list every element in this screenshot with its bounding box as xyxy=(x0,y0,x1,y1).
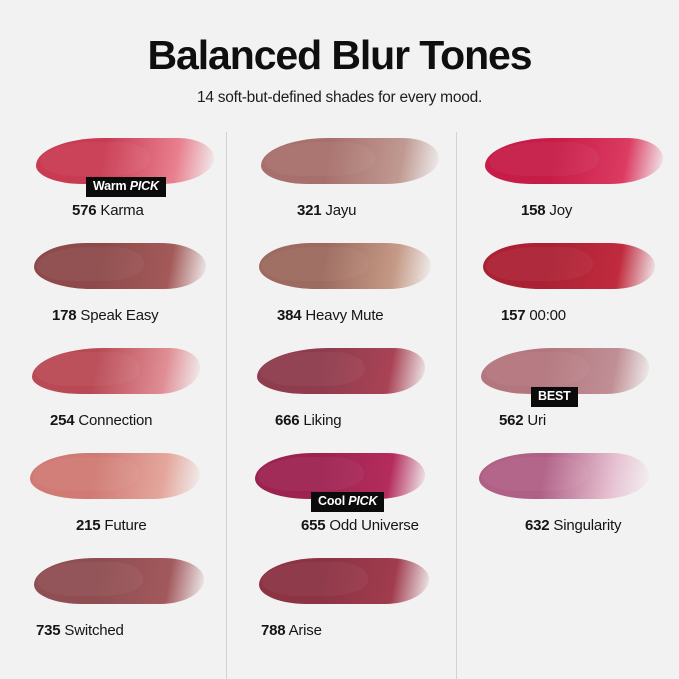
shade-swatch xyxy=(30,453,200,499)
shade-swatch xyxy=(479,453,649,499)
shade-swatch xyxy=(259,243,431,289)
shade-swatch xyxy=(485,138,663,184)
shade-cell[interactable]: Cool PICK655 Odd Universe xyxy=(249,447,456,552)
shade-name: Singularity xyxy=(549,517,621,534)
shade-cell[interactable]: 788 Arise xyxy=(249,552,456,657)
shade-name: Odd Universe xyxy=(325,517,418,534)
badge-label-italic: PICK xyxy=(126,179,158,193)
product-shade-chart: Balanced Blur Tones 14 soft-but-defined … xyxy=(0,0,679,679)
shade-caption: 576 Karma xyxy=(72,202,144,219)
shade-swatch xyxy=(34,558,204,604)
shade-name: Speak Easy xyxy=(76,307,158,324)
shade-caption: 254 Connection xyxy=(50,412,152,429)
swatch-wrap xyxy=(249,132,456,192)
shade-swatch xyxy=(257,348,425,394)
badge-label-strong: BEST xyxy=(538,389,571,403)
shade-cell[interactable]: BEST562 Uri xyxy=(473,342,679,447)
shade-cell[interactable]: 178 Speak Easy xyxy=(24,237,226,342)
shade-column-2: 321 Jayu384 Heavy Mute666 LikingCool PIC… xyxy=(226,132,456,679)
shade-swatch xyxy=(261,138,439,184)
shade-name: Switched xyxy=(60,622,123,639)
swatch-wrap xyxy=(24,342,226,402)
shade-name: Liking xyxy=(299,412,341,429)
badge-label-strong: Cool xyxy=(318,494,345,508)
page-subtitle: 14 soft-but-defined shades for every moo… xyxy=(0,89,679,107)
shade-cell[interactable]: 254 Connection xyxy=(24,342,226,447)
swatch-wrap xyxy=(249,237,456,297)
shade-code: 666 xyxy=(275,412,299,429)
swatch-wrap xyxy=(473,237,679,297)
shade-cell[interactable]: 632 Singularity xyxy=(473,447,679,552)
swatch-wrap xyxy=(473,447,679,507)
shade-code: 254 xyxy=(50,412,74,429)
shade-badge: Warm PICK xyxy=(86,177,166,198)
shade-caption: 788 Arise xyxy=(261,622,322,639)
shade-swatch xyxy=(32,348,200,394)
shade-caption: 666 Liking xyxy=(275,412,341,429)
shade-code: 788 xyxy=(261,622,285,639)
page-title: Balanced Blur Tones xyxy=(0,34,679,77)
shade-code: 562 xyxy=(499,412,523,429)
shade-column-3: 158 Joy157 00:00BEST562 Uri632 Singulari… xyxy=(456,132,679,679)
shade-code: 655 xyxy=(301,517,325,534)
shade-caption: 562 Uri xyxy=(499,412,546,429)
shade-cell[interactable]: 735 Switched xyxy=(24,552,226,657)
shade-badge: BEST xyxy=(531,387,578,408)
shade-code: 576 xyxy=(72,202,96,219)
shade-caption: 215 Future xyxy=(76,517,147,534)
badge-label-italic: PICK xyxy=(345,494,377,508)
shade-caption: 321 Jayu xyxy=(297,202,356,219)
shade-name: Uri xyxy=(523,412,546,429)
shade-code: 321 xyxy=(297,202,321,219)
shade-cell[interactable]: 321 Jayu xyxy=(249,132,456,237)
shade-name: 00:00 xyxy=(525,307,566,324)
swatch-wrap xyxy=(24,237,226,297)
shade-code: 157 xyxy=(501,307,525,324)
shade-name: Jayu xyxy=(321,202,356,219)
swatch-wrap xyxy=(24,447,226,507)
shade-swatch xyxy=(259,558,429,604)
swatch-wrap xyxy=(249,342,456,402)
shade-name: Arise xyxy=(285,622,321,639)
shade-caption: 735 Switched xyxy=(36,622,124,639)
shade-cell[interactable]: 384 Heavy Mute xyxy=(249,237,456,342)
shade-cell[interactable]: Warm PICK576 Karma xyxy=(24,132,226,237)
shade-name: Karma xyxy=(96,202,143,219)
shade-swatch xyxy=(34,243,206,289)
shade-name: Connection xyxy=(74,412,152,429)
shade-badge: Cool PICK xyxy=(311,492,384,513)
shade-code: 632 xyxy=(525,517,549,534)
shade-grid: Warm PICK576 Karma178 Speak Easy254 Conn… xyxy=(0,132,679,679)
swatch-wrap xyxy=(473,132,679,192)
badge-label-strong: Warm xyxy=(93,179,126,193)
shade-code: 735 xyxy=(36,622,60,639)
shade-caption: 157 00:00 xyxy=(501,307,566,324)
shade-code: 215 xyxy=(76,517,100,534)
shade-name: Future xyxy=(100,517,146,534)
shade-swatch xyxy=(483,243,655,289)
shade-column-1: Warm PICK576 Karma178 Speak Easy254 Conn… xyxy=(0,132,226,679)
shade-code: 158 xyxy=(521,202,545,219)
shade-name: Heavy Mute xyxy=(301,307,383,324)
shade-code: 178 xyxy=(52,307,76,324)
header: Balanced Blur Tones 14 soft-but-defined … xyxy=(0,0,679,107)
shade-caption: 632 Singularity xyxy=(525,517,621,534)
swatch-wrap xyxy=(249,552,456,612)
shade-code: 384 xyxy=(277,307,301,324)
shade-cell[interactable]: 157 00:00 xyxy=(473,237,679,342)
shade-cell[interactable]: 158 Joy xyxy=(473,132,679,237)
shade-name: Joy xyxy=(545,202,572,219)
shade-caption: 384 Heavy Mute xyxy=(277,307,383,324)
shade-caption: 178 Speak Easy xyxy=(52,307,158,324)
swatch-wrap xyxy=(24,552,226,612)
shade-caption: 158 Joy xyxy=(521,202,572,219)
shade-cell[interactable]: 215 Future xyxy=(24,447,226,552)
shade-cell[interactable]: 666 Liking xyxy=(249,342,456,447)
shade-caption: 655 Odd Universe xyxy=(301,517,419,534)
